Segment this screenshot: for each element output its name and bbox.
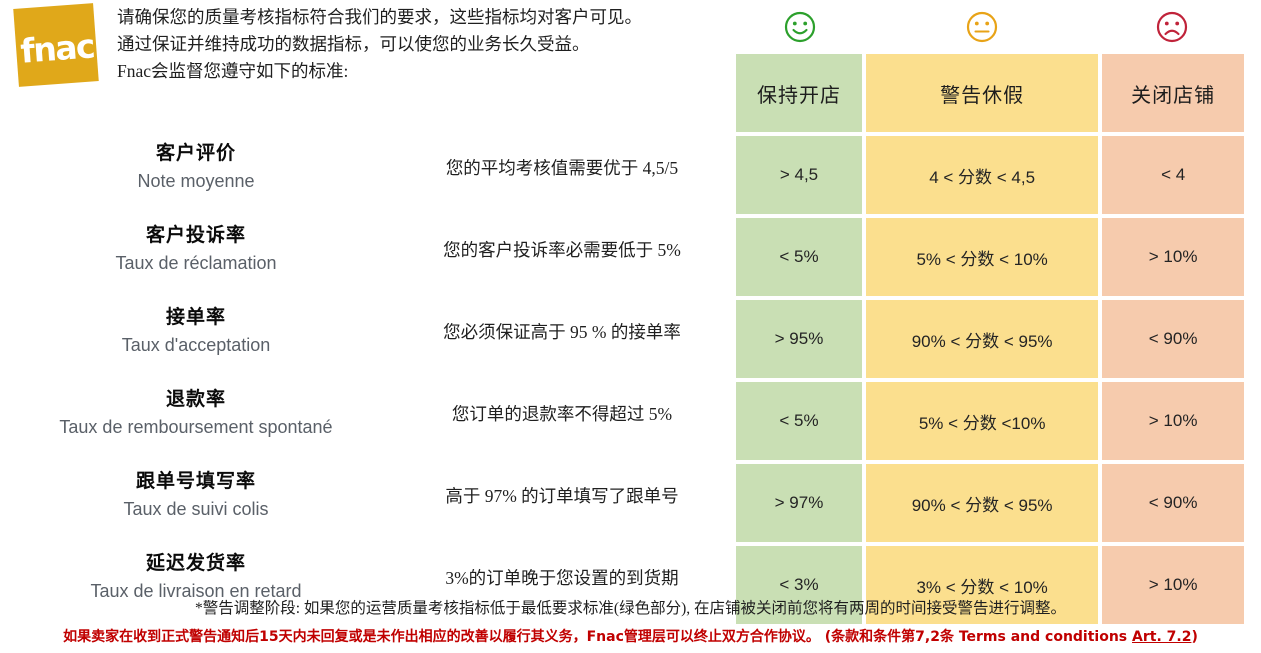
table-row: > 95% 90% < 分数 < 95% < 90% <box>736 300 1244 378</box>
cell-close-shop: < 90% <box>1102 300 1244 378</box>
face-icon-row <box>736 0 1244 54</box>
termination-warning: 如果卖家在收到正式警告通知后15天内未回复或是未作出相应的改善以履行其义务，Fn… <box>0 626 1261 646</box>
fnac-logo: fnac <box>12 4 104 90</box>
warning-text-after: ) <box>1191 629 1197 645</box>
metric-name-item: 跟单号填写率 Taux de suivi colis <box>0 456 392 534</box>
column-header-warning: 警告休假 <box>866 54 1098 132</box>
metric-name-item: 客户投诉率 Taux de réclamation <box>0 210 392 288</box>
cell-warning: 5% < 分数 < 10% <box>866 218 1098 296</box>
cell-keep-open: > 4,5 <box>736 136 862 214</box>
metric-name-item: 接单率 Taux d'acceptation <box>0 292 392 370</box>
cell-close-shop: < 90% <box>1102 464 1244 542</box>
table-row: > 97% 90% < 分数 < 95% < 90% <box>736 464 1244 542</box>
intro-line-1: 请确保您的质量考核指标符合我们的要求，这些指标均对客户可见。 <box>117 4 737 31</box>
cell-close-shop: > 10% <box>1102 382 1244 460</box>
cell-keep-open: > 95% <box>736 300 862 378</box>
sad-face-icon <box>1100 0 1244 54</box>
metric-description: 您的平均考核值需要优于 4,5/5 <box>392 128 732 206</box>
cell-keep-open: < 5% <box>736 382 862 460</box>
cell-keep-open: > 97% <box>736 464 862 542</box>
metric-name-zh: 退款率 <box>166 386 226 412</box>
cell-close-shop: < 4 <box>1102 136 1244 214</box>
metric-name-zh: 接单率 <box>166 304 226 330</box>
adjustment-footnote: *警告调整阶段: 如果您的运营质量考核指标低于最低要求标准(绿色部分), 在店铺… <box>0 596 1261 618</box>
cell-warning: 90% < 分数 < 95% <box>866 300 1098 378</box>
intro-line-3: Fnac会监督您遵守如下的标准: <box>117 58 737 85</box>
logo-wordmark: fnac <box>9 1 107 94</box>
metric-description: 您的客户投诉率必需要低于 5% <box>392 210 732 288</box>
neutral-face-icon <box>864 0 1100 54</box>
intro-line-2: 通过保证并维持成功的数据指标，可以使您的业务长久受益。 <box>117 31 737 58</box>
terms-and-conditions-link[interactable]: Art. 7.2 <box>1132 629 1191 645</box>
metric-name-item: 客户评价 Note moyenne <box>0 128 392 206</box>
grade-threshold-table: 保持开店 警告休假 关闭店铺 > 4,5 4 < 分数 < 4,5 < 4 < … <box>736 0 1244 628</box>
metric-name-list: 客户评价 Note moyenne 客户投诉率 Taux de réclamat… <box>0 128 392 620</box>
intro-paragraph: 请确保您的质量考核指标符合我们的要求，这些指标均对客户可见。 通过保证并维持成功… <box>117 4 737 85</box>
metric-name-fr: Taux de remboursement spontané <box>59 414 332 440</box>
metric-name-item: 退款率 Taux de remboursement spontané <box>0 374 392 452</box>
cell-warning: 4 < 分数 < 4,5 <box>866 136 1098 214</box>
happy-face-icon <box>736 0 864 54</box>
metric-description-list: 您的平均考核值需要优于 4,5/5 您的客户投诉率必需要低于 5% 您必须保证高… <box>392 128 732 620</box>
metric-name-zh: 客户投诉率 <box>146 222 246 248</box>
metric-name-fr: Taux de réclamation <box>115 250 276 276</box>
warning-text-before: 如果卖家在收到正式警告通知后15天内未回复或是未作出相应的改善以履行其义务，Fn… <box>63 629 1132 645</box>
metric-name-fr: Note moyenne <box>137 168 254 194</box>
metric-name-fr: Taux d'acceptation <box>122 332 271 358</box>
metric-name-zh: 客户评价 <box>156 140 236 166</box>
metric-description: 您必须保证高于 95 % 的接单率 <box>392 292 732 370</box>
table-row: > 4,5 4 < 分数 < 4,5 < 4 <box>736 136 1244 214</box>
table-header-row: 保持开店 警告休假 关闭店铺 <box>736 54 1244 132</box>
metric-name-zh: 跟单号填写率 <box>136 468 256 494</box>
cell-close-shop: > 10% <box>1102 218 1244 296</box>
table-row: < 5% 5% < 分数 < 10% > 10% <box>736 218 1244 296</box>
metric-name-zh: 延迟发货率 <box>146 550 246 576</box>
column-header-close-shop: 关闭店铺 <box>1102 54 1244 132</box>
table-row: < 5% 5% < 分数 <10% > 10% <box>736 382 1244 460</box>
metric-description: 高于 97% 的订单填写了跟单号 <box>392 456 732 534</box>
cell-warning: 90% < 分数 < 95% <box>866 464 1098 542</box>
metric-description: 您订单的退款率不得超过 5% <box>392 374 732 452</box>
logo-wordmark-text: fnac <box>19 29 95 67</box>
column-header-keep-open: 保持开店 <box>736 54 862 132</box>
metric-name-fr: Taux de suivi colis <box>123 496 268 522</box>
cell-warning: 5% < 分数 <10% <box>866 382 1098 460</box>
cell-keep-open: < 5% <box>736 218 862 296</box>
